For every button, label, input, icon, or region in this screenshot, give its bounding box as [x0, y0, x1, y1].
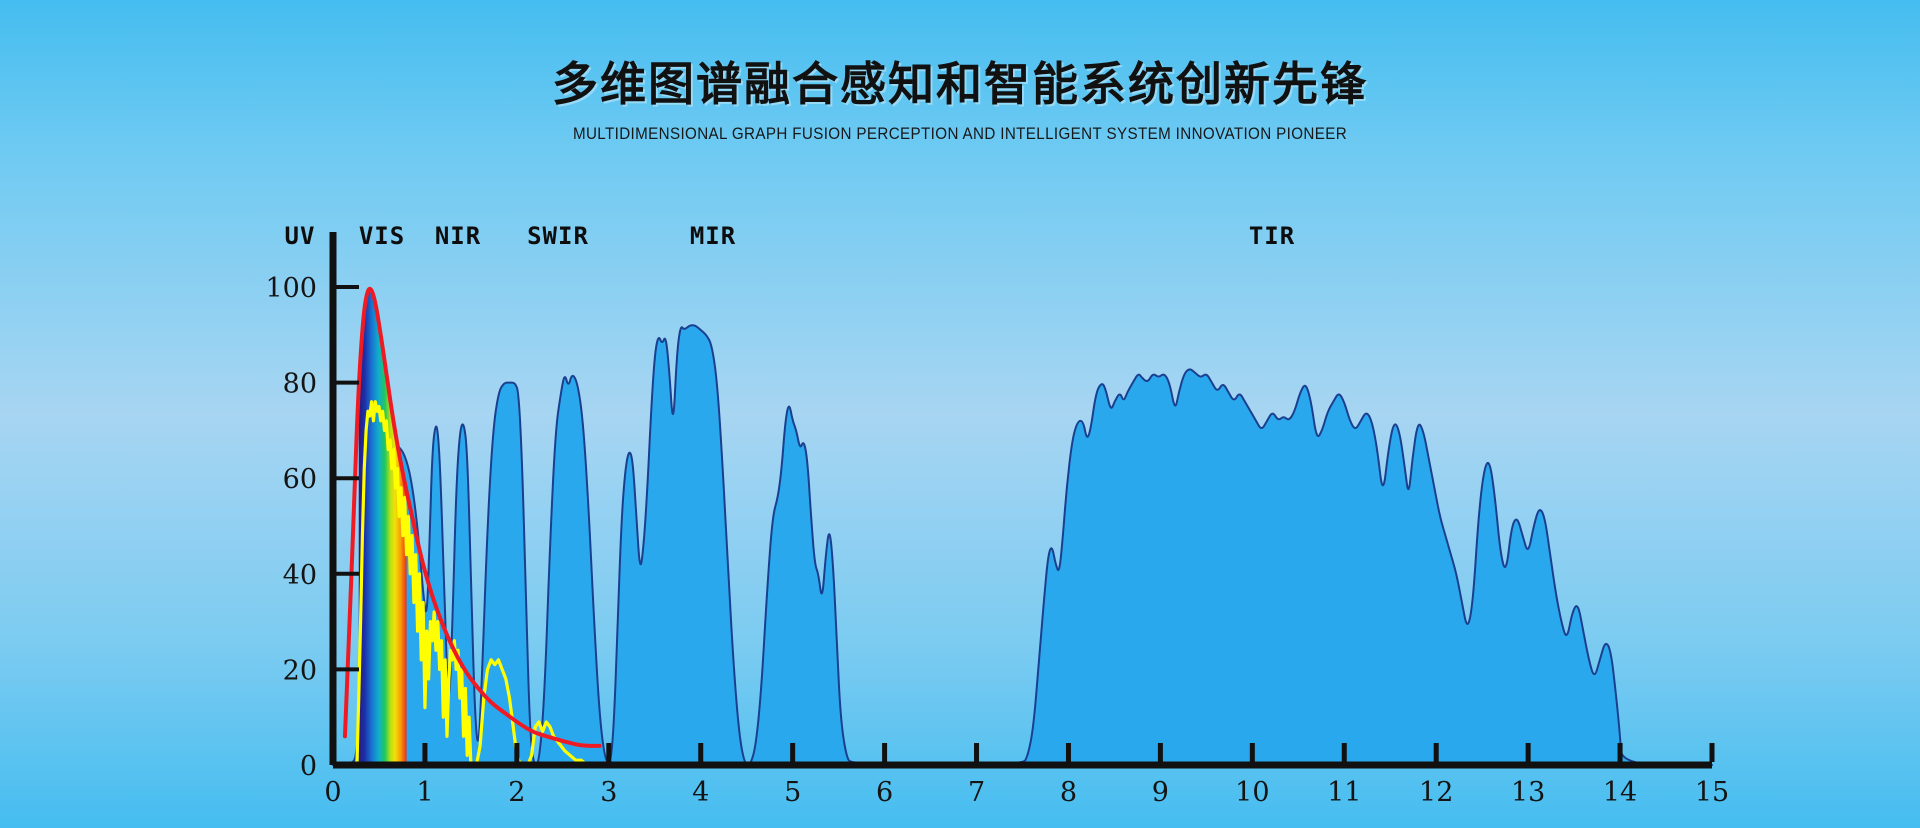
poster-root: 多维图谱融合感知和智能系统创新先锋 MULTIDIMENSIONAL GRAPH…	[0, 0, 1920, 828]
spectrum-svg: 0123456789101112131415 020406080100	[0, 0, 1920, 828]
x-axis-tick-labels: 0123456789101112131415	[324, 777, 1729, 808]
x-tick-label: 3	[600, 777, 617, 808]
x-tick-label: 2	[508, 777, 525, 808]
x-tick-label: 12	[1419, 777, 1453, 808]
y-tick-label: 0	[300, 751, 317, 782]
x-tick-label: 14	[1603, 777, 1637, 808]
x-tick-label: 8	[1060, 777, 1077, 808]
x-tick-label: 10	[1235, 777, 1269, 808]
x-tick-label: 7	[968, 777, 985, 808]
x-tick-label: 9	[1152, 777, 1169, 808]
y-tick-label: 40	[283, 560, 317, 591]
x-tick-label: 0	[324, 777, 341, 808]
spectrum-chart: 0123456789101112131415 020406080100	[0, 0, 1920, 828]
x-tick-label: 4	[692, 777, 709, 808]
x-tick-label: 11	[1327, 777, 1361, 808]
x-tick-label: 6	[876, 777, 893, 808]
y-tick-label: 60	[283, 464, 317, 495]
y-tick-label: 20	[283, 655, 317, 686]
y-tick-label: 80	[283, 369, 317, 400]
x-tick-label: 1	[416, 777, 433, 808]
y-tick-label: 100	[265, 273, 317, 304]
x-tick-label: 5	[784, 777, 801, 808]
x-tick-label: 13	[1511, 777, 1545, 808]
x-tick-label: 15	[1695, 777, 1729, 808]
y-axis-tick-labels: 020406080100	[265, 273, 317, 782]
atmospheric-transmission-area	[333, 325, 1712, 765]
